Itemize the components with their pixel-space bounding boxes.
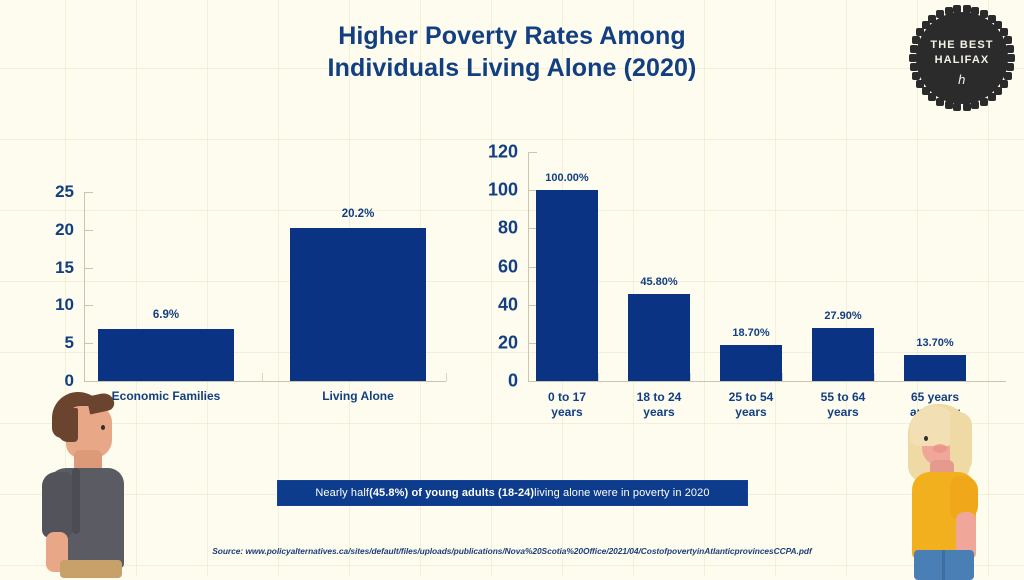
y-axis-tick — [529, 381, 537, 382]
x-axis-line — [528, 381, 1006, 382]
y-axis-tick-label: 0 — [40, 371, 74, 391]
x-axis-category-line: 0 to 17 — [548, 390, 586, 404]
man-pants — [60, 560, 122, 578]
y-axis-tick — [529, 152, 537, 153]
x-axis-tick — [262, 373, 263, 381]
y-axis-tick — [85, 381, 93, 382]
bar-value-label: 20.2% — [342, 208, 375, 220]
y-axis-tick-label: 15 — [40, 258, 74, 278]
x-axis-category-line: years — [551, 405, 582, 419]
bar — [720, 345, 782, 381]
illustration-man — [30, 392, 138, 576]
x-axis-tick — [874, 373, 875, 381]
x-axis-category-label: 25 to 54years — [729, 390, 774, 420]
y-axis-tick — [85, 305, 93, 306]
y-axis-tick-label: 5 — [40, 333, 74, 353]
y-axis-tick-label: 20 — [40, 220, 74, 240]
x-axis-tick — [690, 373, 691, 381]
bar — [812, 328, 874, 381]
x-axis-category-line: years — [643, 405, 674, 419]
y-axis-tick-label: 60 — [472, 256, 518, 277]
y-axis-line — [84, 192, 85, 382]
y-axis-tick — [85, 343, 93, 344]
chart-poverty-by-household-type: 05101520256.9%Economic Families20.2%Livi… — [0, 0, 470, 430]
x-axis-category-label: 0 to 17years — [548, 390, 586, 420]
bar-value-label: 100.00% — [545, 172, 588, 184]
woman-eye — [924, 436, 928, 441]
y-axis-tick-label: 25 — [40, 182, 74, 202]
bar-value-label: 13.70% — [916, 337, 953, 349]
bar — [628, 294, 690, 381]
x-axis-tick — [598, 373, 599, 381]
bar-value-label: 27.90% — [824, 310, 861, 322]
y-axis-tick-label: 20 — [472, 332, 518, 353]
bar-value-label: 6.9% — [153, 309, 179, 321]
woman-blush — [933, 444, 947, 453]
x-axis-category-line: 55 to 64 — [821, 390, 866, 404]
callout-suffix: living alone were in poverty in 2020 — [534, 487, 709, 499]
man-sleeve — [42, 472, 72, 538]
bar-value-label: 45.80% — [640, 276, 677, 288]
bar — [98, 329, 234, 381]
x-axis-category-label: 55 to 64years — [821, 390, 866, 420]
x-axis-tick — [782, 373, 783, 381]
y-axis-tick-label: 40 — [472, 294, 518, 315]
illustration-woman — [890, 404, 998, 576]
y-axis-tick-label: 120 — [472, 142, 518, 163]
man-hair-side — [58, 408, 78, 442]
bar — [904, 355, 966, 381]
bar — [536, 190, 598, 381]
x-axis-category-line: years — [827, 405, 858, 419]
x-axis-category-line: 25 to 54 — [729, 390, 774, 404]
x-axis-category-line: years — [735, 405, 766, 419]
y-axis-tick — [85, 268, 93, 269]
y-axis-tick-label: 100 — [472, 180, 518, 201]
callout-highlight: (45.8%) of young adults (18-24) — [369, 487, 534, 499]
source-citation: Source: www.policyalternatives.ca/sites/… — [0, 546, 1024, 556]
x-axis-category-label: Living Alone — [322, 389, 394, 404]
y-axis-tick-label: 80 — [472, 218, 518, 239]
x-axis-category-label: 18 to 24years — [637, 390, 682, 420]
x-axis-category-line: 18 to 24 — [637, 390, 682, 404]
callout-banner: Nearly half (45.8%) of young adults (18-… — [277, 480, 748, 506]
bar — [290, 228, 426, 381]
bar-value-label: 18.70% — [732, 327, 769, 339]
infographic-canvas: Higher Poverty Rates Among Individuals L… — [0, 0, 1024, 576]
man-hair-fringe — [86, 391, 115, 414]
y-axis-tick — [85, 192, 93, 193]
x-axis-category-line: 65 years — [911, 390, 959, 404]
y-axis-tick — [85, 230, 93, 231]
callout-prefix: Nearly half — [315, 487, 369, 499]
man-eye — [101, 425, 105, 430]
x-axis-tick — [446, 373, 447, 381]
y-axis-tick-label: 0 — [472, 371, 518, 392]
man-shirt-shadow — [72, 468, 80, 534]
y-axis-tick-label: 10 — [40, 295, 74, 315]
x-axis-line — [84, 381, 446, 382]
chart-poverty-by-age-group: 020406080100120100.00%0 to 17years45.80%… — [470, 0, 1024, 440]
